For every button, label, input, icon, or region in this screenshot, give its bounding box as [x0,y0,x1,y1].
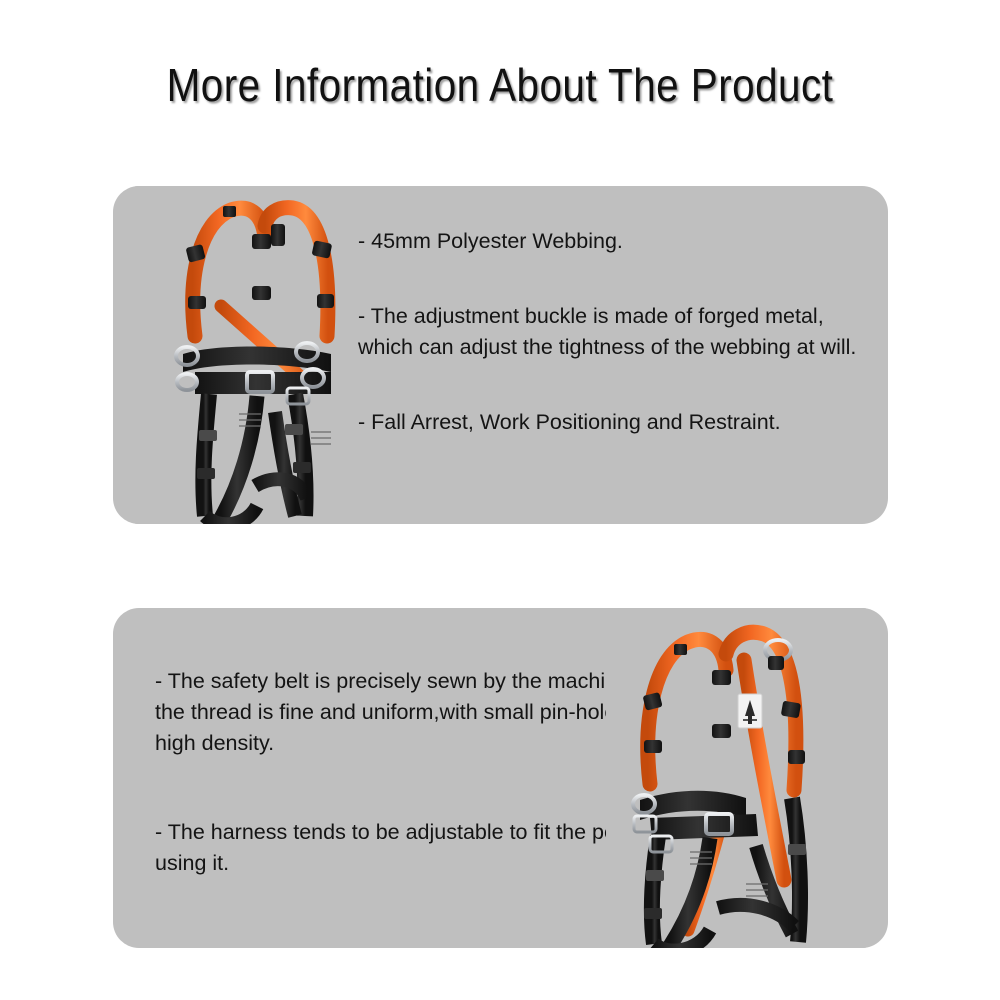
spacer [358,257,858,301]
panel-1-bullet-1: - 45mm Polyester Webbing. [358,226,858,257]
panel-1-bullet-2: - The adjustment buckle is made of forge… [358,301,858,363]
harness-label [738,694,762,728]
page-title: More Information About The Product [60,58,940,112]
spacer [358,363,858,407]
panel-1-bullet-3: - Fall Arrest, Work Positioning and Rest… [358,407,858,438]
safety-harness-rear-image [606,608,866,948]
info-panel-1: - 45mm Polyester Webbing. - The adjustme… [113,186,888,524]
info-panel-2: - The safety belt is precisely sewn by t… [113,608,888,948]
panel-1-text-block: - 45mm Polyester Webbing. - The adjustme… [358,226,858,438]
safety-harness-front-image [135,186,395,524]
